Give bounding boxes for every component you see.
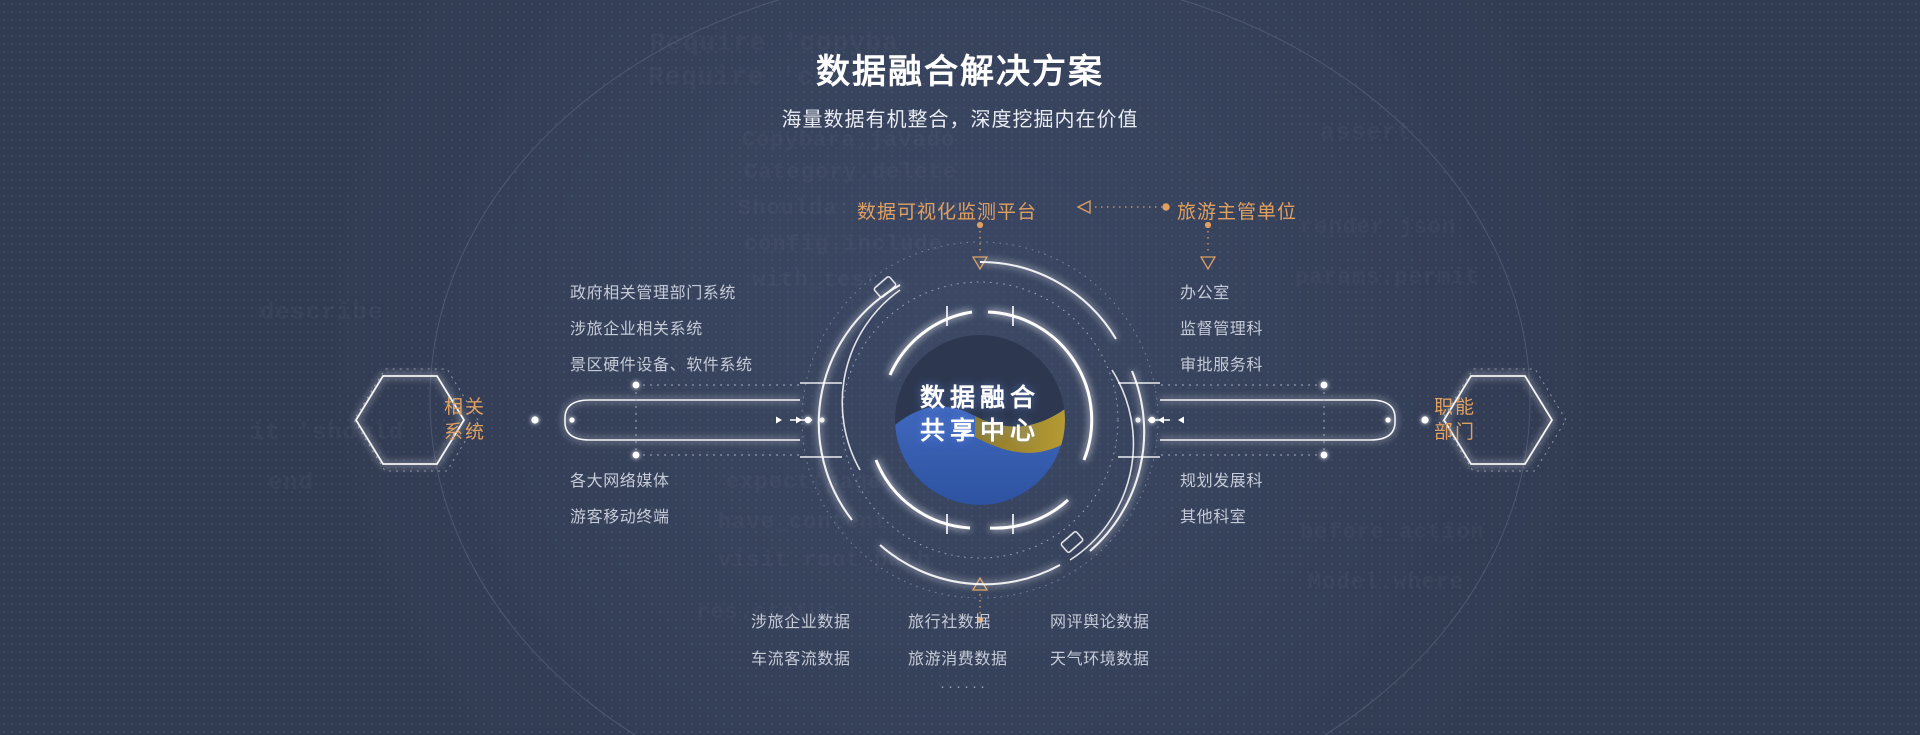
hex-right-line1: 职能 [1395, 395, 1515, 420]
background-code-line: visit root_path [718, 548, 931, 573]
right-item-4: 规划发展科 [1180, 467, 1263, 491]
label-data-visualization-platform: 数据可视化监测平台 [857, 197, 1037, 224]
hex-label-related-systems: 相关 系统 [405, 395, 525, 445]
background-code-line: expect(page) [726, 470, 896, 495]
background-code-line: render json [1300, 215, 1456, 240]
hex-left-line1: 相关 [405, 395, 525, 420]
center-line1: 数据融合 [830, 382, 1130, 415]
center-hub-label: 数据融合 共享中心 [830, 382, 1130, 448]
bottom-item-5: 网评舆论数据 [1050, 608, 1150, 632]
page-subtitle: 海量数据有机整合，深度挖掘内在价值 [0, 103, 1920, 132]
left-item-2: 涉旅企业相关系统 [570, 315, 703, 339]
right-item-5: 其他科室 [1180, 503, 1246, 527]
background-code-line: end [268, 470, 314, 497]
page-root: Require 'copybaRequire 'configCopybara.j… [0, 0, 1920, 735]
hex-left-line2: 系统 [405, 420, 525, 445]
hex-right-line2: 部门 [1395, 420, 1515, 445]
right-item-1: 办公室 [1180, 279, 1230, 303]
bottom-item-6: 天气环境数据 [1050, 645, 1150, 669]
right-item-2: 监督管理科 [1180, 315, 1263, 339]
bottom-ellipsis: ······ [940, 678, 988, 695]
background-code-line: describe [260, 300, 383, 327]
bottom-item-4: 旅游消费数据 [908, 645, 1008, 669]
background-code-line: Category.delete [744, 160, 957, 185]
center-line2: 共享中心 [830, 415, 1130, 448]
hex-label-functional-departments: 职能 部门 [1395, 395, 1515, 445]
left-item-4: 各大网络媒体 [570, 467, 670, 491]
left-item-1: 政府相关管理部门系统 [570, 279, 736, 303]
label-tourism-authority: 旅游主管单位 [1177, 197, 1297, 224]
page-title: 数据融合解决方案 [0, 44, 1920, 93]
bottom-item-2: 车流客流数据 [751, 645, 851, 669]
left-item-5: 游客移动终端 [570, 503, 670, 527]
bottom-item-1: 涉旅企业数据 [751, 608, 851, 632]
right-item-3: 审批服务科 [1180, 351, 1263, 375]
background-code-line: config.include [744, 232, 943, 257]
left-item-3: 景区硬件设备、软件系统 [570, 351, 753, 375]
background-code-line: Model.where [1308, 570, 1464, 595]
background-code-line: have_content [718, 510, 888, 535]
background-code-line: params.permit [1295, 265, 1480, 290]
bottom-item-3: 旅行社数据 [908, 608, 991, 632]
background-code-line: before_action [1300, 520, 1485, 545]
background-code-line: with_test [752, 268, 880, 293]
background-code-line: it 'should [250, 420, 404, 447]
